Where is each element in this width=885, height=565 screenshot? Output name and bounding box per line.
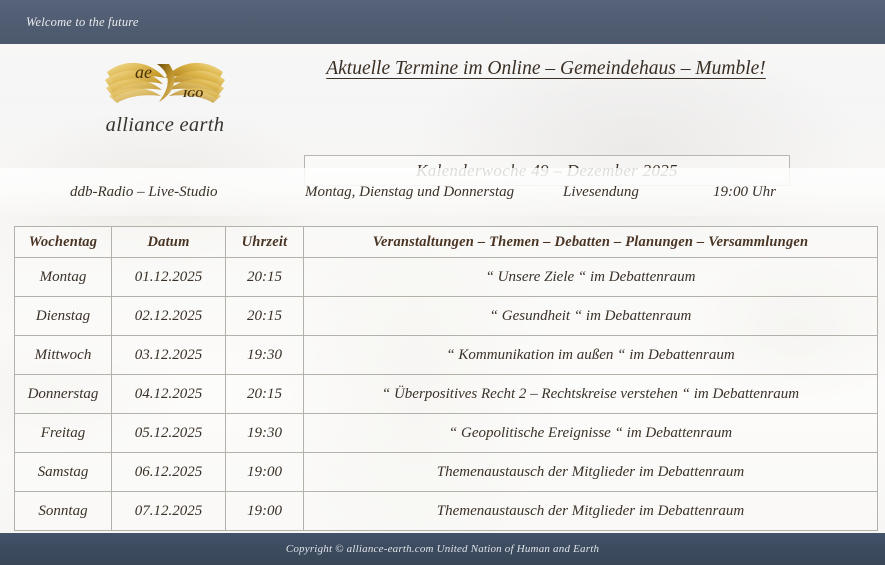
cell-time: 20:15: [226, 297, 304, 336]
brand-name: alliance earth: [80, 114, 250, 137]
cell-event: “ Überpositives Recht 2 – Rechtskreise v…: [304, 375, 878, 414]
radio-days-label: Montag, Dienstag und Donnerstag: [305, 184, 563, 201]
cell-weekday: Montag: [15, 258, 112, 297]
column-header-events: Veranstaltungen – Themen – Debatten – Pl…: [304, 227, 878, 258]
cell-weekday: Freitag: [15, 414, 112, 453]
radio-info-strip: ddb-Radio – Live-Studio Montag, Dienstag…: [0, 168, 885, 216]
top-bar: Welcome to the future: [0, 0, 885, 44]
table-row[interactable]: Sonntag 07.12.2025 19:00 Themenaustausch…: [15, 492, 878, 531]
cell-date: 02.12.2025: [112, 297, 226, 336]
golden-wings-logo-icon: ae IGO: [95, 52, 235, 108]
cell-date: 06.12.2025: [112, 453, 226, 492]
cell-weekday: Samstag: [15, 453, 112, 492]
brand-block[interactable]: ae IGO alliance earth: [80, 52, 250, 137]
footer-copyright: Copyright © alliance-earth.com United Na…: [0, 533, 885, 565]
cell-weekday: Sonntag: [15, 492, 112, 531]
page-root: Welcome to the future: [0, 0, 885, 565]
column-header-date: Datum: [112, 227, 226, 258]
schedule-table: Wochentag Datum Uhrzeit Veranstaltungen …: [14, 226, 878, 531]
cell-time: 20:15: [226, 258, 304, 297]
table-row[interactable]: Dienstag 02.12.2025 20:15 “ Gesundheit “…: [15, 297, 878, 336]
cell-time: 19:30: [226, 414, 304, 453]
cell-weekday: Mittwoch: [15, 336, 112, 375]
cell-event: “ Gesundheit “ im Debattenraum: [304, 297, 878, 336]
schedule-table-wrap: Wochentag Datum Uhrzeit Veranstaltungen …: [14, 226, 873, 531]
cell-date: 04.12.2025: [112, 375, 226, 414]
logo-ae-text: ae: [135, 62, 152, 82]
cell-date: 05.12.2025: [112, 414, 226, 453]
table-row[interactable]: Samstag 06.12.2025 19:00 Themenaustausch…: [15, 453, 878, 492]
logo-igo-text: IGO: [182, 88, 203, 100]
cell-date: 03.12.2025: [112, 336, 226, 375]
cell-time: 20:15: [226, 375, 304, 414]
table-row[interactable]: Montag 01.12.2025 20:15 “ Unsere Ziele “…: [15, 258, 878, 297]
schedule-table-body: Montag 01.12.2025 20:15 “ Unsere Ziele “…: [15, 258, 878, 531]
cell-date: 01.12.2025: [112, 258, 226, 297]
radio-studio-label: ddb-Radio – Live-Studio: [70, 184, 305, 201]
page-header: ae IGO alliance earth Aktuelle Termine i…: [0, 44, 885, 166]
radio-broadcast-label: Livesendung: [563, 184, 713, 201]
cell-date: 07.12.2025: [112, 492, 226, 531]
logo-wrap[interactable]: ae IGO: [95, 52, 235, 108]
cell-weekday: Dienstag: [15, 297, 112, 336]
cell-time: 19:00: [226, 492, 304, 531]
page-title: Aktuelle Termine im Online – Gemeindehau…: [300, 58, 792, 80]
column-header-weekday: Wochentag: [15, 227, 112, 258]
table-header-row: Wochentag Datum Uhrzeit Veranstaltungen …: [15, 227, 878, 258]
cell-weekday: Donnerstag: [15, 375, 112, 414]
footer-bar: Copyright © alliance-earth.com United Na…: [0, 533, 885, 565]
cell-event: Themenaustausch der Mitglieder im Debatt…: [304, 453, 878, 492]
table-row[interactable]: Mittwoch 03.12.2025 19:30 “ Kommunikatio…: [15, 336, 878, 375]
radio-time-label: 19:00 Uhr: [713, 184, 823, 201]
table-row[interactable]: Donnerstag 04.12.2025 20:15 “ Überpositi…: [15, 375, 878, 414]
radio-info-row: ddb-Radio – Live-Studio Montag, Dienstag…: [70, 168, 825, 216]
cell-event: Themenaustausch der Mitglieder im Debatt…: [304, 492, 878, 531]
cell-event: “ Geopolitische Ereignisse “ im Debatten…: [304, 414, 878, 453]
cell-time: 19:30: [226, 336, 304, 375]
table-row[interactable]: Freitag 05.12.2025 19:30 “ Geopolitische…: [15, 414, 878, 453]
cell-time: 19:00: [226, 453, 304, 492]
cell-event: “ Kommunikation im außen “ im Debattenra…: [304, 336, 878, 375]
site-tagline: Welcome to the future: [26, 0, 139, 44]
cell-event: “ Unsere Ziele “ im Debattenraum: [304, 258, 878, 297]
column-header-time: Uhrzeit: [226, 227, 304, 258]
schedule-table-head: Wochentag Datum Uhrzeit Veranstaltungen …: [15, 227, 878, 258]
